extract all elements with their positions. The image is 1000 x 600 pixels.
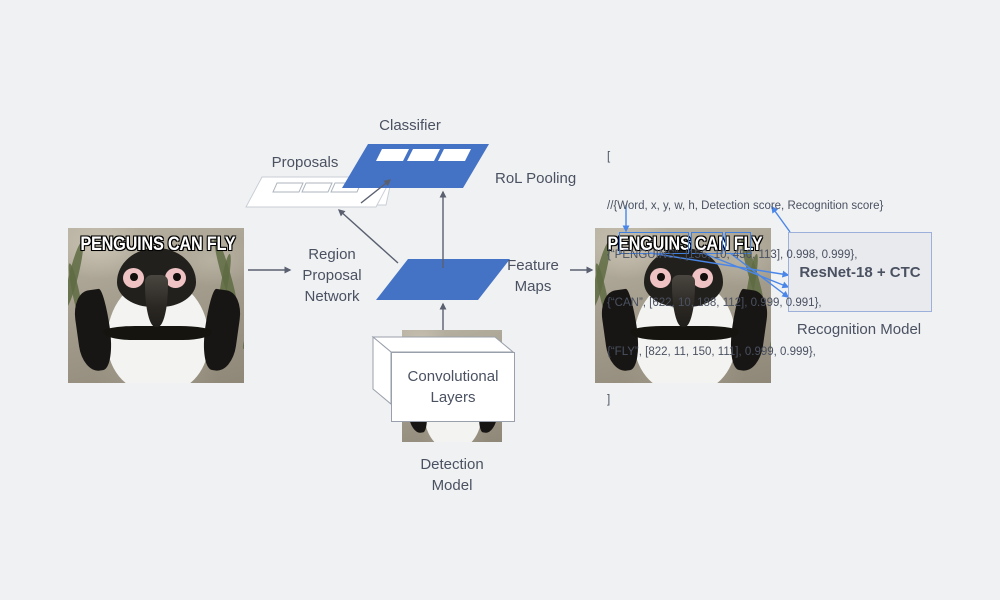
proposals-plane <box>256 177 392 205</box>
diagram-canvas: PENGUINS CAN FLY PENGUINS CAN FLY <box>0 0 1000 600</box>
penguin-eye-left <box>130 273 138 282</box>
input-image-overlay-text: PENGUINS CAN FLY <box>80 234 231 256</box>
feature-maps-plane <box>376 259 510 300</box>
proposal-rect-2 <box>302 183 332 192</box>
classifier-cell-3 <box>438 149 471 161</box>
classifier-label: Classifier <box>350 115 470 136</box>
detection-model-label: Detection Model <box>397 454 507 496</box>
proposals-plane-main <box>246 177 392 207</box>
results-json-line: {“CAN”, [622, 10, 188, 112], 0.999, 0.99… <box>607 295 883 311</box>
penguin-chest-band <box>103 326 212 340</box>
classifier-cell-2 <box>407 149 440 161</box>
convolutional-layers-box: Convolutional Layers <box>391 352 515 422</box>
feature-maps-label: Feature Maps <box>497 255 569 297</box>
proposal-rect-1 <box>273 183 303 192</box>
proposals-label: Proposals <box>253 152 357 173</box>
results-json-line: {“PENGUINS”, [156, 10, 450, 113], 0.998,… <box>607 247 883 263</box>
arrow-proposals-to-classifier <box>361 180 390 203</box>
penguin-eye-right <box>173 273 181 282</box>
input-image: PENGUINS CAN FLY <box>68 228 244 383</box>
results-json-line: //{Word, x, y, w, h, Detection score, Re… <box>607 198 883 214</box>
results-json-line: {“FLY”, [822, 11, 150, 111], 0.999, 0.99… <box>607 344 883 360</box>
results-json-block: [ //{Word, x, y, w, h, Detection score, … <box>607 117 883 441</box>
region-proposal-network-label: Region Proposal Network <box>287 244 377 307</box>
classifier-cell-1 <box>376 149 409 161</box>
cube-left-face <box>373 337 391 404</box>
results-json-line: ] <box>607 392 883 408</box>
classifier-plane <box>342 144 489 188</box>
proposal-rect-3 <box>331 183 361 192</box>
convolutional-layers-label: Convolutional Layers <box>408 366 499 408</box>
roi-pooling-label: RoL Pooling <box>495 168 576 189</box>
results-json-line: [ <box>607 149 883 165</box>
